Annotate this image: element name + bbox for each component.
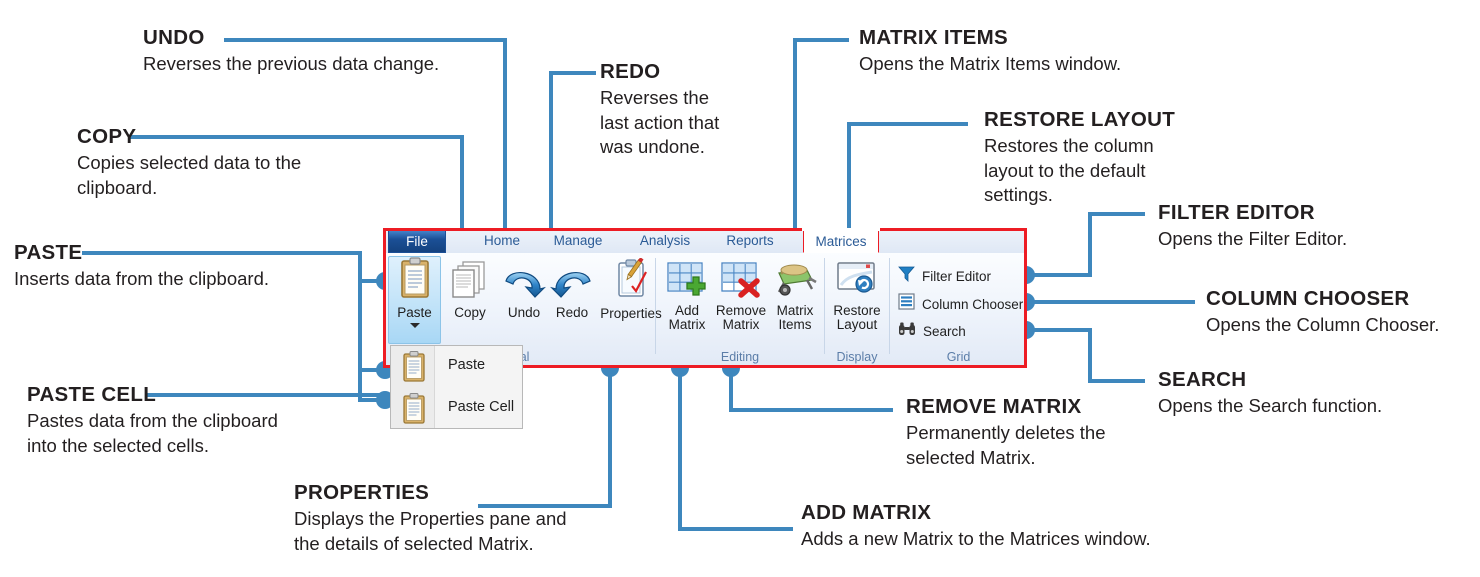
command-remove-matrix[interactable]: RemoveMatrix [712,259,770,332]
command-label: Paste [388,306,441,320]
command-label: AddMatrix [661,304,713,332]
command-paste[interactable]: Paste [388,256,441,328]
dropdown-item-paste[interactable]: Paste [391,346,524,388]
callout-title: REDO [600,61,719,84]
callout-title: UNDO [143,27,439,50]
column-list-icon [898,293,915,315]
callout-restore-layout: RESTORE LAYOUT Restores the columnlayout… [984,109,1175,208]
undo-arrow-icon [499,259,549,306]
command-label: Undo [499,306,549,320]
group-label-grid: Grid [890,350,1027,364]
callout-desc: Copies selected data to theclipboard. [77,151,301,200]
command-label: RemoveMatrix [712,304,770,332]
callout-desc: Displays the Properties pane andthe deta… [294,507,567,556]
clipboard-icon [399,392,429,431]
ribbon-tabstrip: File Home Manage Analysis Reports Matric… [383,228,1027,254]
funnel-icon [898,265,915,287]
callout-title: MATRIX ITEMS [859,27,1121,50]
callout-desc: Opens the Column Chooser. [1206,313,1439,338]
callout-desc: Opens the Filter Editor. [1158,227,1347,252]
dropdown-item-paste-cell[interactable]: Paste Cell [391,388,524,430]
callout-title: PASTE [14,242,269,265]
command-label: RestoreLayout [828,304,886,332]
callout-paste: PASTE Inserts data from the clipboard. [14,242,269,292]
chevron-down-icon[interactable] [410,323,420,328]
dropdown-item-label: Paste Cell [448,399,514,415]
callout-desc: Restores the columnlayout to the default… [984,134,1175,208]
callout-title: ADD MATRIX [801,502,1151,525]
callout-title: SEARCH [1158,369,1382,392]
highlight-box-notch [802,228,880,231]
callout-add-matrix: ADD MATRIX Adds a new Matrix to the Matr… [801,502,1151,552]
tab-manage[interactable]: Manage [540,228,616,253]
callout-title: FILTER EDITOR [1158,202,1347,225]
callout-desc: Inserts data from the clipboard. [14,267,269,292]
callout-search: SEARCH Opens the Search function. [1158,369,1382,419]
tab-analysis[interactable]: Analysis [627,228,703,253]
command-column-chooser[interactable]: Column Chooser [898,293,1023,315]
paste-dropdown-menu: Paste Paste Cell [390,345,523,429]
group-label-editing: Editing [656,350,824,364]
clipboard-icon [388,256,441,306]
callout-title: PASTE CELL [27,384,278,407]
command-label: Copy [445,306,495,320]
tab-label: Matrices [815,234,866,249]
command-redo[interactable]: Redo [547,259,597,320]
callout-redo: REDO Reverses thelast action thatwas und… [600,61,719,160]
window-restore-icon [828,259,886,304]
grid-plus-icon [661,259,713,304]
ribbon-group-grid: Filter Editor Column Chooser [890,253,1027,365]
callout-properties: PROPERTIES Displays the Properties pane … [294,482,567,556]
tab-label: Analysis [640,233,690,248]
tab-reports[interactable]: Reports [713,228,787,253]
tab-label: File [406,234,428,249]
callout-title: COPY [77,126,301,149]
callout-desc: Opens the Matrix Items window. [859,52,1121,77]
dropdown-item-label: Paste [448,357,485,373]
callout-desc: Permanently deletes theselected Matrix. [906,421,1106,470]
callout-title: PROPERTIES [294,482,567,505]
command-matrix-items[interactable]: MatrixItems [770,259,820,332]
callout-desc: Opens the Search function. [1158,394,1382,419]
callout-desc: Reverses the previous data change. [143,52,439,77]
callout-column-chooser: COLUMN CHOOSER Opens the Column Chooser. [1206,288,1439,338]
callout-title: RESTORE LAYOUT [984,109,1175,132]
command-add-matrix[interactable]: AddMatrix [661,259,713,332]
command-label: MatrixItems [770,304,820,332]
tab-label: Home [484,233,520,248]
copy-pages-icon [445,259,495,306]
callout-matrix-items: MATRIX ITEMS Opens the Matrix Items wind… [859,27,1121,77]
tab-home[interactable]: Home [471,228,533,253]
command-label: Column Chooser [922,297,1023,312]
command-label: Search [923,324,966,339]
callout-filter-editor: FILTER EDITOR Opens the Filter Editor. [1158,202,1347,252]
callout-title: REMOVE MATRIX [906,396,1106,419]
grid-x-icon [712,259,770,304]
command-label: Redo [547,306,597,320]
command-restore-layout[interactable]: RestoreLayout [828,259,886,332]
tab-file[interactable]: File [388,228,446,253]
redo-arrow-icon [547,259,597,306]
command-filter-editor[interactable]: Filter Editor [898,265,991,287]
callout-paste-cell: PASTE CELL Pastes data from the clipboar… [27,384,278,458]
binoculars-icon [898,321,916,342]
command-label: Filter Editor [922,269,991,284]
command-copy[interactable]: Copy [445,259,495,320]
callout-desc: Adds a new Matrix to the Matrices window… [801,527,1151,552]
callout-title: COLUMN CHOOSER [1206,288,1439,311]
command-search[interactable]: Search [898,321,966,342]
tab-label: Reports [726,233,773,248]
callout-remove-matrix: REMOVE MATRIX Permanently deletes thesel… [906,396,1106,470]
callout-copy: COPY Copies selected data to theclipboar… [77,126,301,200]
wheelbarrow-icon [770,259,820,304]
tab-label: Manage [554,233,603,248]
group-label-display: Display [825,350,889,364]
ribbon-group-editing: AddMatrix [656,253,824,365]
callout-desc: Reverses thelast action thatwas undone. [600,86,719,160]
command-undo[interactable]: Undo [499,259,549,320]
callout-undo: UNDO Reverses the previous data change. [143,27,439,77]
callout-desc: Pastes data from the clipboardinto the s… [27,409,278,458]
ribbon-group-display: RestoreLayout Display [825,253,889,365]
tab-matrices[interactable]: Matrices [803,228,879,253]
clipboard-icon [399,350,429,389]
